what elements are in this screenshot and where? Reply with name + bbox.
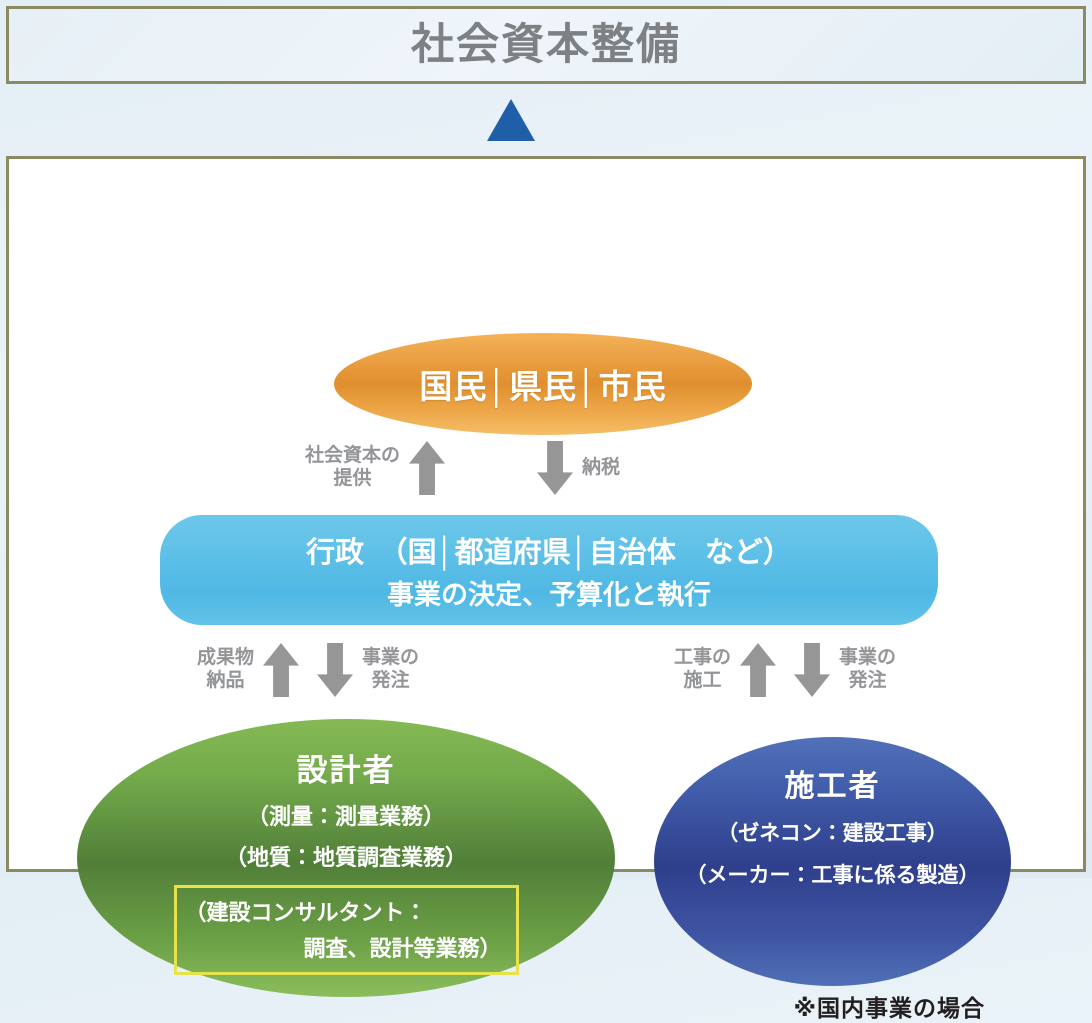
up-triangle-icon <box>487 99 535 141</box>
contractor-subtitle-maker: （メーカー：工事に係る製造） <box>686 859 980 889</box>
title-banner: 社会資本整備 <box>6 6 1086 84</box>
citizens-node: 国民│県民│市民 <box>334 333 752 435</box>
arrow-group-citizens-government: 社会資本の 提供 納税 <box>305 441 620 495</box>
contractor-title: 施工者 <box>785 761 881 805</box>
arrow-label-deliverable-submission: 成果物 納品 <box>197 647 254 693</box>
arrow-group-government-contractor: 工事の 施工 事業の 発注 <box>674 643 896 697</box>
designer-subtitle-geology: （地質：地質調査業務） <box>225 840 467 872</box>
arrow-down-icon <box>794 643 830 697</box>
government-line1: 行政 （国│都道府県│自治体 など） <box>306 529 792 571</box>
consultant-line1: （建設コンサルタント： <box>185 895 508 927</box>
consultant-callout: （建設コンサルタント： 調査、設計等業務） <box>174 885 519 975</box>
arrow-label-project-order-designer: 事業の 発注 <box>362 647 419 693</box>
designer-title: 設計者 <box>297 745 396 790</box>
arrow-up-icon <box>263 643 299 697</box>
diagram-canvas: 社会資本整備 国民│県民│市民 社会資本の 提供 納税 行政 （国│都道府県│自… <box>0 0 1092 878</box>
arrow-label-construction-work: 工事の 施工 <box>674 647 731 693</box>
consultant-line2: 調査、設計等業務） <box>185 931 508 963</box>
arrow-up-icon <box>740 643 776 697</box>
arrow-down-icon <box>537 441 573 495</box>
arrow-up-icon <box>409 441 445 495</box>
government-node: 行政 （国│都道府県│自治体 など） 事業の決定、予算化と執行 <box>160 515 938 625</box>
arrow-label-social-capital-provision: 社会資本の 提供 <box>305 445 400 491</box>
contractor-node: 施工者 （ゼネコン：建設工事） （メーカー：工事に係る製造） <box>654 737 1011 986</box>
arrow-label-tax-payment: 納税 <box>582 457 620 480</box>
designer-subtitle-survey: （測量：測量業務） <box>247 799 445 831</box>
arrow-down-icon <box>317 643 353 697</box>
government-line2: 事業の決定、予算化と執行 <box>387 573 711 612</box>
designer-node: 設計者 （測量：測量業務） （地質：地質調査業務） （建設コンサルタント： 調査… <box>77 719 615 997</box>
page-title: 社会資本整備 <box>411 24 681 67</box>
citizens-label: 国民│県民│市民 <box>419 360 666 408</box>
arrow-group-government-designer: 成果物 納品 事業の 発注 <box>197 643 419 697</box>
arrow-label-project-order-contractor: 事業の 発注 <box>839 647 896 693</box>
footnote-text: ※国内事業の場合 <box>794 989 985 1023</box>
contractor-subtitle-general: （ゼネコン：建設工事） <box>717 817 948 847</box>
main-diagram-panel: 国民│県民│市民 社会資本の 提供 納税 行政 （国│都道府県│自治体 など） … <box>6 156 1086 872</box>
